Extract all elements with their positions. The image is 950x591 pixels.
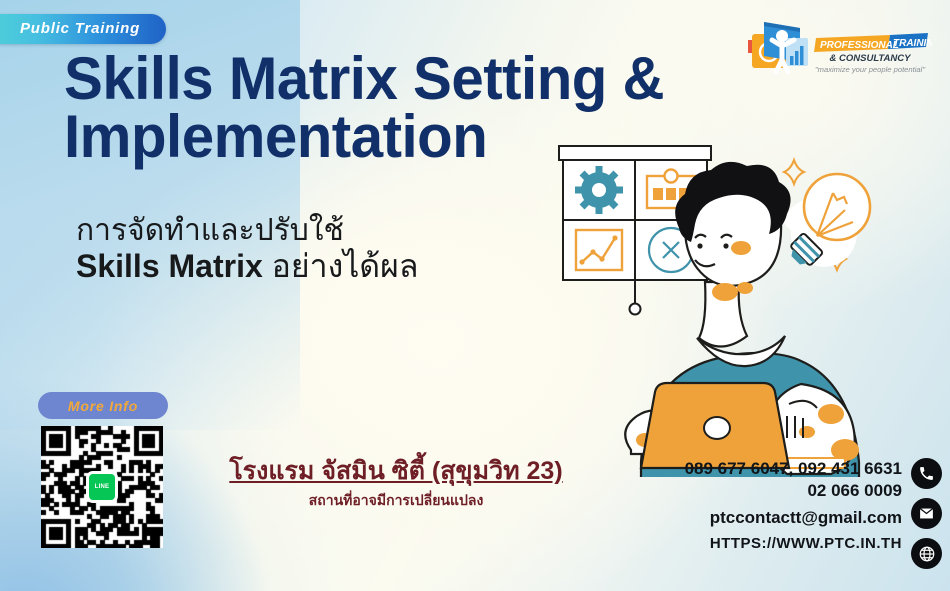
contact-icons <box>911 458 942 578</box>
lightbulb-icon <box>783 174 870 270</box>
contact-email[interactable]: ptccontactt@gmail.com <box>602 507 902 529</box>
subtitle-english-bold: Skills Matrix <box>76 248 263 284</box>
contact-block: 089 677 6047, 092 431 6631 02 066 0009 p… <box>602 458 902 553</box>
email-icon[interactable] <box>911 498 942 529</box>
venue-block: โรงแรม จัสมิน ซิตี้ (สุขุมวิท 23) สถานที… <box>196 458 596 512</box>
gear-icon <box>575 166 623 214</box>
company-logo: PROFESSIONAL TRAINING & CONSULTANCY "max… <box>742 16 932 78</box>
contact-website[interactable]: HTTPS://WWW.PTC.IN.TH <box>602 534 902 553</box>
logo-wordmark: PROFESSIONAL TRAINING & CONSULTANCY "max… <box>814 33 932 74</box>
public-training-badge-label: Public Training <box>20 20 140 37</box>
logo-word-professional: PROFESSIONAL <box>820 40 899 51</box>
more-info-button[interactable]: More Info <box>38 392 168 419</box>
contact-phone-line1[interactable]: 089 677 6047, 092 431 6631 <box>602 458 902 480</box>
public-training-badge: Public Training <box>0 14 166 44</box>
promo-banner: Public Training Skills Matrix Setting & … <box>0 0 950 591</box>
more-info-label: More Info <box>68 398 138 414</box>
logo-word-training: TRAINING <box>893 38 932 49</box>
subtitle-line2: Skills Matrix อย่างได้ผล <box>76 247 418 285</box>
page-title-line1: Skills Matrix Setting & <box>64 45 664 112</box>
logo-tagline: "maximize your people potential" <box>815 65 925 74</box>
venue-name: โรงแรม จัสมิน ซิตี้ (สุขุมวิท 23) <box>196 458 596 486</box>
contact-phone-line2[interactable]: 02 066 0009 <box>602 480 902 502</box>
phone-icon[interactable] <box>911 458 942 489</box>
venue-note: สถานที่อาจมีการเปลี่ยนแปลง <box>196 490 596 512</box>
subtitle-thai-line1: การจัดทำและปรับใช้ <box>76 212 344 250</box>
line-qr-code[interactable]: LINE <box>41 426 163 548</box>
line-logo-label: LINE <box>95 484 109 490</box>
logo-emblem <box>748 22 808 72</box>
line-logo-icon: LINE <box>86 471 118 503</box>
logo-word-consultancy: & CONSULTANCY <box>830 53 913 64</box>
globe-icon[interactable] <box>911 538 942 569</box>
subtitle-thai-tail: อย่างได้ผล <box>263 248 419 284</box>
illustration <box>545 132 950 477</box>
